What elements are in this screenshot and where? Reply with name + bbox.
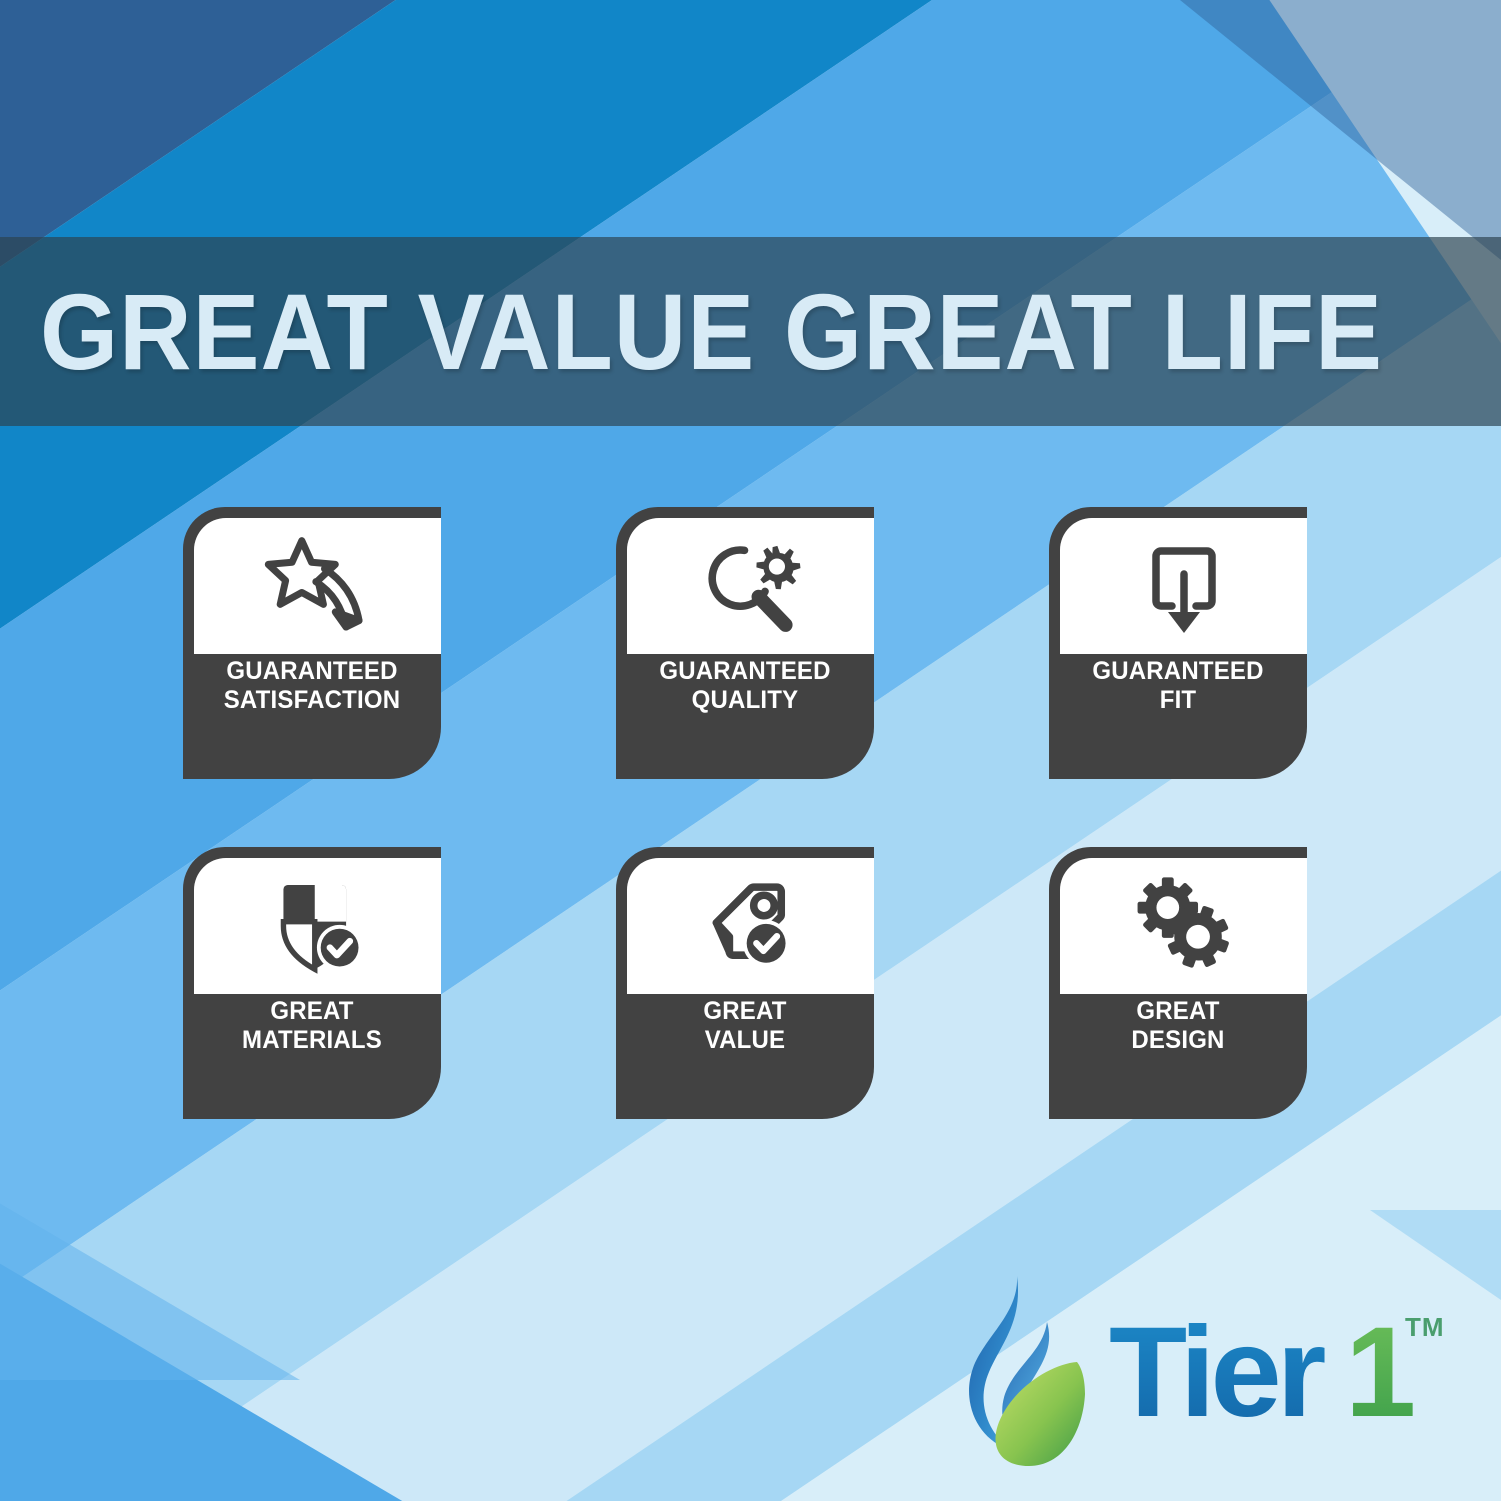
card-label-line2: SATISFACTION	[188, 686, 436, 715]
magnifier-gear-icon	[627, 518, 874, 654]
tier1-logo[interactable]: Tier 1 TM	[955, 1262, 1465, 1477]
card-label-line1: GUARANTEED	[1092, 657, 1263, 685]
feature-card-great-materials[interactable]: GREAT MATERIALS	[183, 847, 441, 1119]
card-label-line1: GREAT	[1136, 997, 1219, 1025]
page-title: GREAT VALUE GREAT LIFE	[40, 278, 1383, 386]
svg-text:TM: TM	[1405, 1312, 1445, 1342]
card-label-line1: GREAT	[703, 997, 786, 1025]
card-label-line1: GUARANTEED	[226, 657, 397, 685]
feature-card-guaranteed-satisfaction[interactable]: GUARANTEED SATISFACTION	[183, 507, 441, 779]
promo-graphic: GREAT VALUE GREAT LIFE GUARANTEED SATISF…	[0, 0, 1501, 1501]
card-label: GUARANTEED QUALITY	[621, 657, 869, 716]
card-label-line2: MATERIALS	[188, 1026, 436, 1055]
feature-card-guaranteed-quality[interactable]: GUARANTEED QUALITY	[616, 507, 874, 779]
price-tag-check-icon	[627, 858, 874, 994]
shooting-star-icon	[194, 518, 441, 654]
card-label: GUARANTEED SATISFACTION	[188, 657, 436, 716]
card-label: GREAT DESIGN	[1054, 997, 1302, 1056]
feature-card-guaranteed-fit[interactable]: GUARANTEED FIT	[1049, 507, 1307, 779]
feature-card-great-value[interactable]: GREAT VALUE	[616, 847, 874, 1119]
card-label: GREAT VALUE	[621, 997, 869, 1056]
card-label: GUARANTEED FIT	[1054, 657, 1302, 716]
tier1-droplet-leaf-icon	[955, 1270, 1095, 1470]
card-label-line2: FIT	[1054, 686, 1302, 715]
card-label-line2: QUALITY	[621, 686, 869, 715]
headline-banner: GREAT VALUE GREAT LIFE	[0, 237, 1501, 426]
shield-check-icon	[194, 858, 441, 994]
card-label: GREAT MATERIALS	[188, 997, 436, 1056]
card-label-line1: GREAT	[270, 997, 353, 1025]
card-label-line2: VALUE	[621, 1026, 869, 1055]
card-label-line2: DESIGN	[1054, 1026, 1302, 1055]
gears-icon	[1060, 858, 1307, 994]
arrow-into-box-icon	[1060, 518, 1307, 654]
tier1-wordmark: Tier 1 TM	[1109, 1300, 1449, 1440]
feature-card-grid: GUARANTEED SATISFACTION GU	[183, 507, 1333, 1119]
card-label-line1: GUARANTEED	[659, 657, 830, 685]
svg-text:Tier: Tier	[1109, 1301, 1325, 1440]
feature-card-great-design[interactable]: GREAT DESIGN	[1049, 847, 1307, 1119]
